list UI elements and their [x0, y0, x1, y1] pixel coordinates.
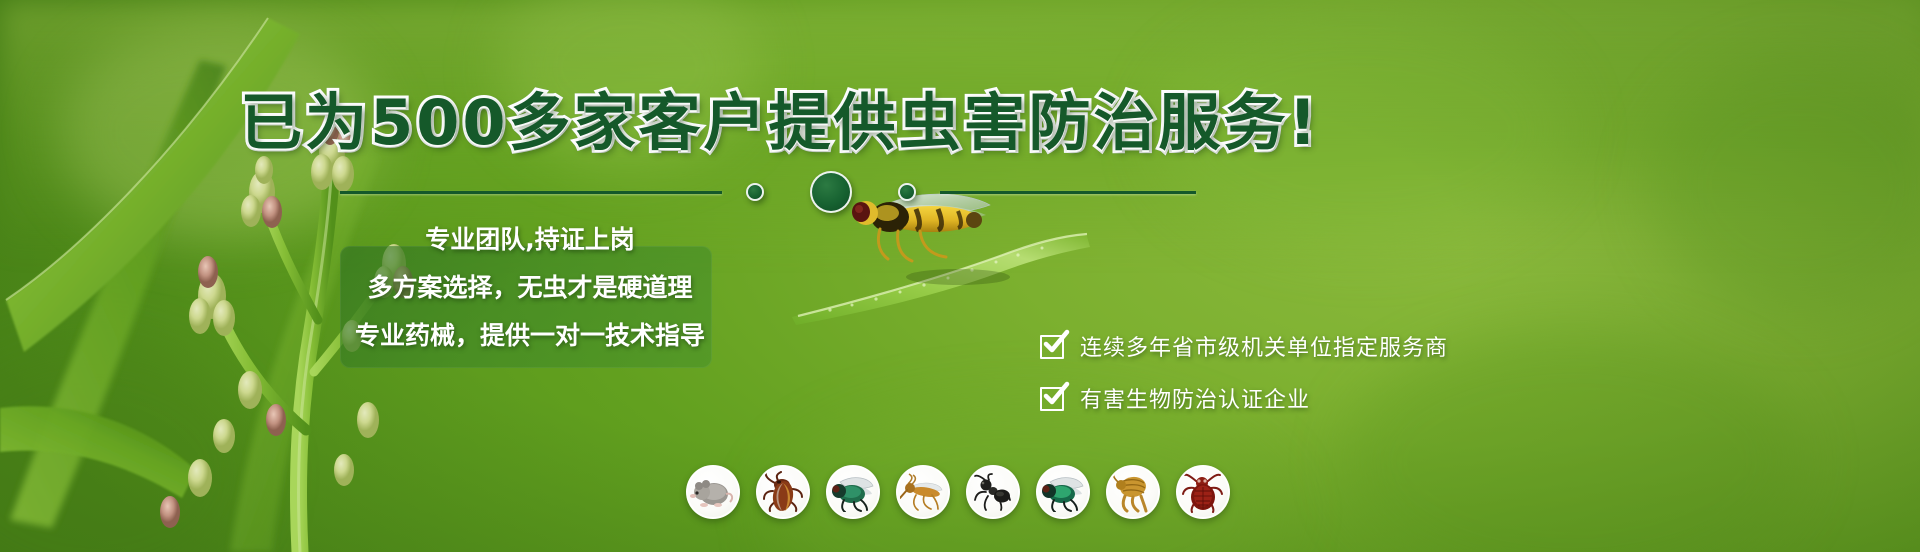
ant-icon[interactable] — [966, 465, 1020, 519]
page-title: 已为500多家客户提供虫害防治服务! — [0, 72, 1560, 162]
cockroach-icon[interactable] — [756, 465, 810, 519]
divider-line-left — [340, 191, 722, 194]
divider-line-right — [940, 191, 1196, 194]
divider-dot-small — [746, 183, 764, 201]
checkbox-checked-icon — [1040, 333, 1066, 359]
flea-icon[interactable] — [1106, 465, 1160, 519]
housefly-icon[interactable] — [826, 465, 880, 519]
blowfly-icon[interactable] — [1036, 465, 1090, 519]
checklist-item: 有害生物防治认证企业 — [1040, 382, 1480, 414]
mosquito-icon[interactable] — [896, 465, 950, 519]
divider-dot-small — [898, 183, 916, 201]
slogan-line-3: 专业药械，提供一对一技术指导 — [355, 316, 705, 352]
page-title-text: 已为500多家客户提供虫害防治服务! — [240, 86, 1320, 159]
checklist-item-label: 连续多年省市级机关单位指定服务商 — [1080, 330, 1448, 362]
checkbox-checked-icon — [1040, 385, 1066, 411]
slogan-line-1: 专业团队,持证上岗 — [425, 220, 635, 256]
slogan-list: 专业团队,持证上岗 多方案选择，无虫才是硬道理 专业药械，提供一对一技术指导 — [336, 208, 724, 358]
bedbug-icon[interactable] — [1176, 465, 1230, 519]
pest-type-icon-row — [686, 465, 1230, 519]
checklist-item-label: 有害生物防治认证企业 — [1080, 382, 1310, 414]
credentials-checklist: 连续多年省市级机关单位指定服务商 有害生物防治认证企业 — [1040, 330, 1480, 414]
pest-control-hero-banner: 已为500多家客户提供虫害防治服务! 专业团队,持证上岗 多方案选择，无虫才是硬… — [0, 0, 1920, 552]
checklist-item: 连续多年省市级机关单位指定服务商 — [1040, 330, 1480, 362]
divider-dot-large — [810, 171, 852, 213]
slogan-line-2: 多方案选择，无虫才是硬道理 — [367, 268, 692, 304]
rodent-icon[interactable] — [686, 465, 740, 519]
